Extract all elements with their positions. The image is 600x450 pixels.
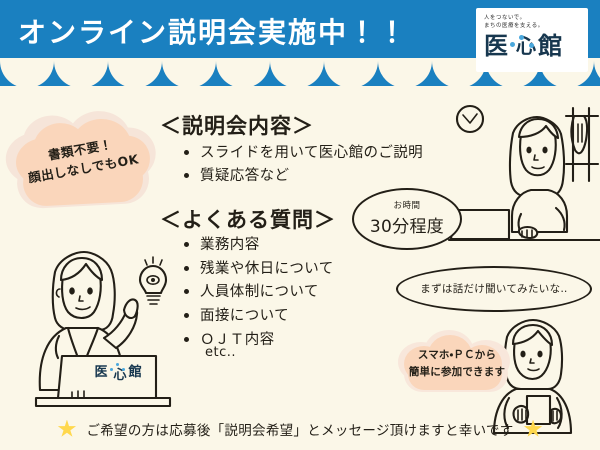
scallop-bump <box>378 58 432 88</box>
footer-note-text: ご希望の方は応募後「説明会希望」とメッセージ頂けますと幸いです <box>86 419 513 439</box>
scallop-bump <box>162 58 216 88</box>
list-item: 面接について <box>182 305 334 329</box>
lightbulb-icon <box>140 257 166 304</box>
bubble-device-access: スマホ・ＰＣから 簡単に参加できます <box>398 330 516 396</box>
person-at-laptop-illustration <box>449 117 600 240</box>
bubble-device-access-line1: スマホ・ＰＣから <box>402 347 512 364</box>
bubble-device-access-text: スマホ・ＰＣから 簡単に参加できます <box>402 347 512 381</box>
bubble-duration-label: お時間 <box>352 199 462 211</box>
list-item: 業務内容 <box>182 234 334 258</box>
brand-tagline-line2: まちの医療を支える。 <box>484 22 582 30</box>
laptop-badge-char-shin: 心 <box>114 364 127 383</box>
scallop-bump <box>594 58 600 88</box>
faq-etc-note: etc.. <box>205 345 236 360</box>
footer-note: ご希望の方は応募後「説明会希望」とメッセージ頂けますと幸いです <box>0 412 600 446</box>
list-item: 質疑応答など <box>182 165 423 188</box>
banner-title: オンライン説明会実施中！！ <box>18 18 438 49</box>
section-heading-faq: ＜よくある質問＞ <box>160 204 336 234</box>
person-presenting-illustration <box>36 252 170 406</box>
clock-icon <box>457 106 483 132</box>
list-item: スライドを用いて医心館のご説明 <box>182 142 423 165</box>
poster-canvas: オンライン説明会実施中！！ 人をつないで。 まちの医療を支える。 医 心 館 <box>0 0 600 450</box>
scallop-divider <box>0 72 600 102</box>
laptop-badge-char-i: 医 <box>94 361 107 380</box>
bubble-duration-value: 30分程度 <box>352 212 462 237</box>
brand-kokoro-mark: 心 <box>510 33 536 59</box>
section-heading-content: ＜説明会内容＞ <box>160 110 314 140</box>
laptop-kokoro-mark: 心 <box>110 362 127 379</box>
star-icon <box>524 420 543 439</box>
bubble-duration: お時間 30分程度 <box>352 188 462 250</box>
bubble-no-documents: 書類不要！ 顔出しなしでもOK <box>4 108 161 214</box>
dot-icon <box>510 42 515 47</box>
star-icon <box>57 420 76 439</box>
bubble-device-access-line2: 簡単に参加できます <box>402 364 512 381</box>
dot-icon <box>110 368 113 371</box>
list-item: 残業や休日について <box>182 258 334 282</box>
bubble-just-listening-text: まずは話だけ聞いてみたいな‥ <box>396 281 592 296</box>
scallop-bump <box>0 58 54 88</box>
brand-logo: 人をつないで。 まちの医療を支える。 医 心 館 <box>476 8 588 72</box>
brand-tagline-line1: 人をつないで。 <box>484 14 582 22</box>
faq-list: 業務内容 残業や休日について 人員体制について 面接について ＯＪＴ内容 <box>182 234 334 352</box>
dot-icon <box>116 363 119 366</box>
scallop-bump <box>324 58 378 88</box>
curtain-decor <box>566 108 598 181</box>
brand-name: 医 心 館 <box>484 33 582 59</box>
scallop-bump <box>270 58 324 88</box>
scallop-bump <box>108 58 162 88</box>
brand-name-char-kan: 館 <box>538 34 562 58</box>
scallop-bump <box>54 58 108 88</box>
list-item: 人員体制について <box>182 281 334 305</box>
bubble-just-listening: まずは話だけ聞いてみたいな‥ <box>396 266 592 312</box>
laptop-brand-badge: 医 心 館 <box>86 362 150 378</box>
brand-name-char-i: 医 <box>484 34 508 58</box>
laptop-badge-char-kan: 館 <box>129 361 142 380</box>
scallop-bump <box>216 58 270 88</box>
content-list: スライドを用いて医心館のご説明 質疑応答など <box>182 142 423 189</box>
